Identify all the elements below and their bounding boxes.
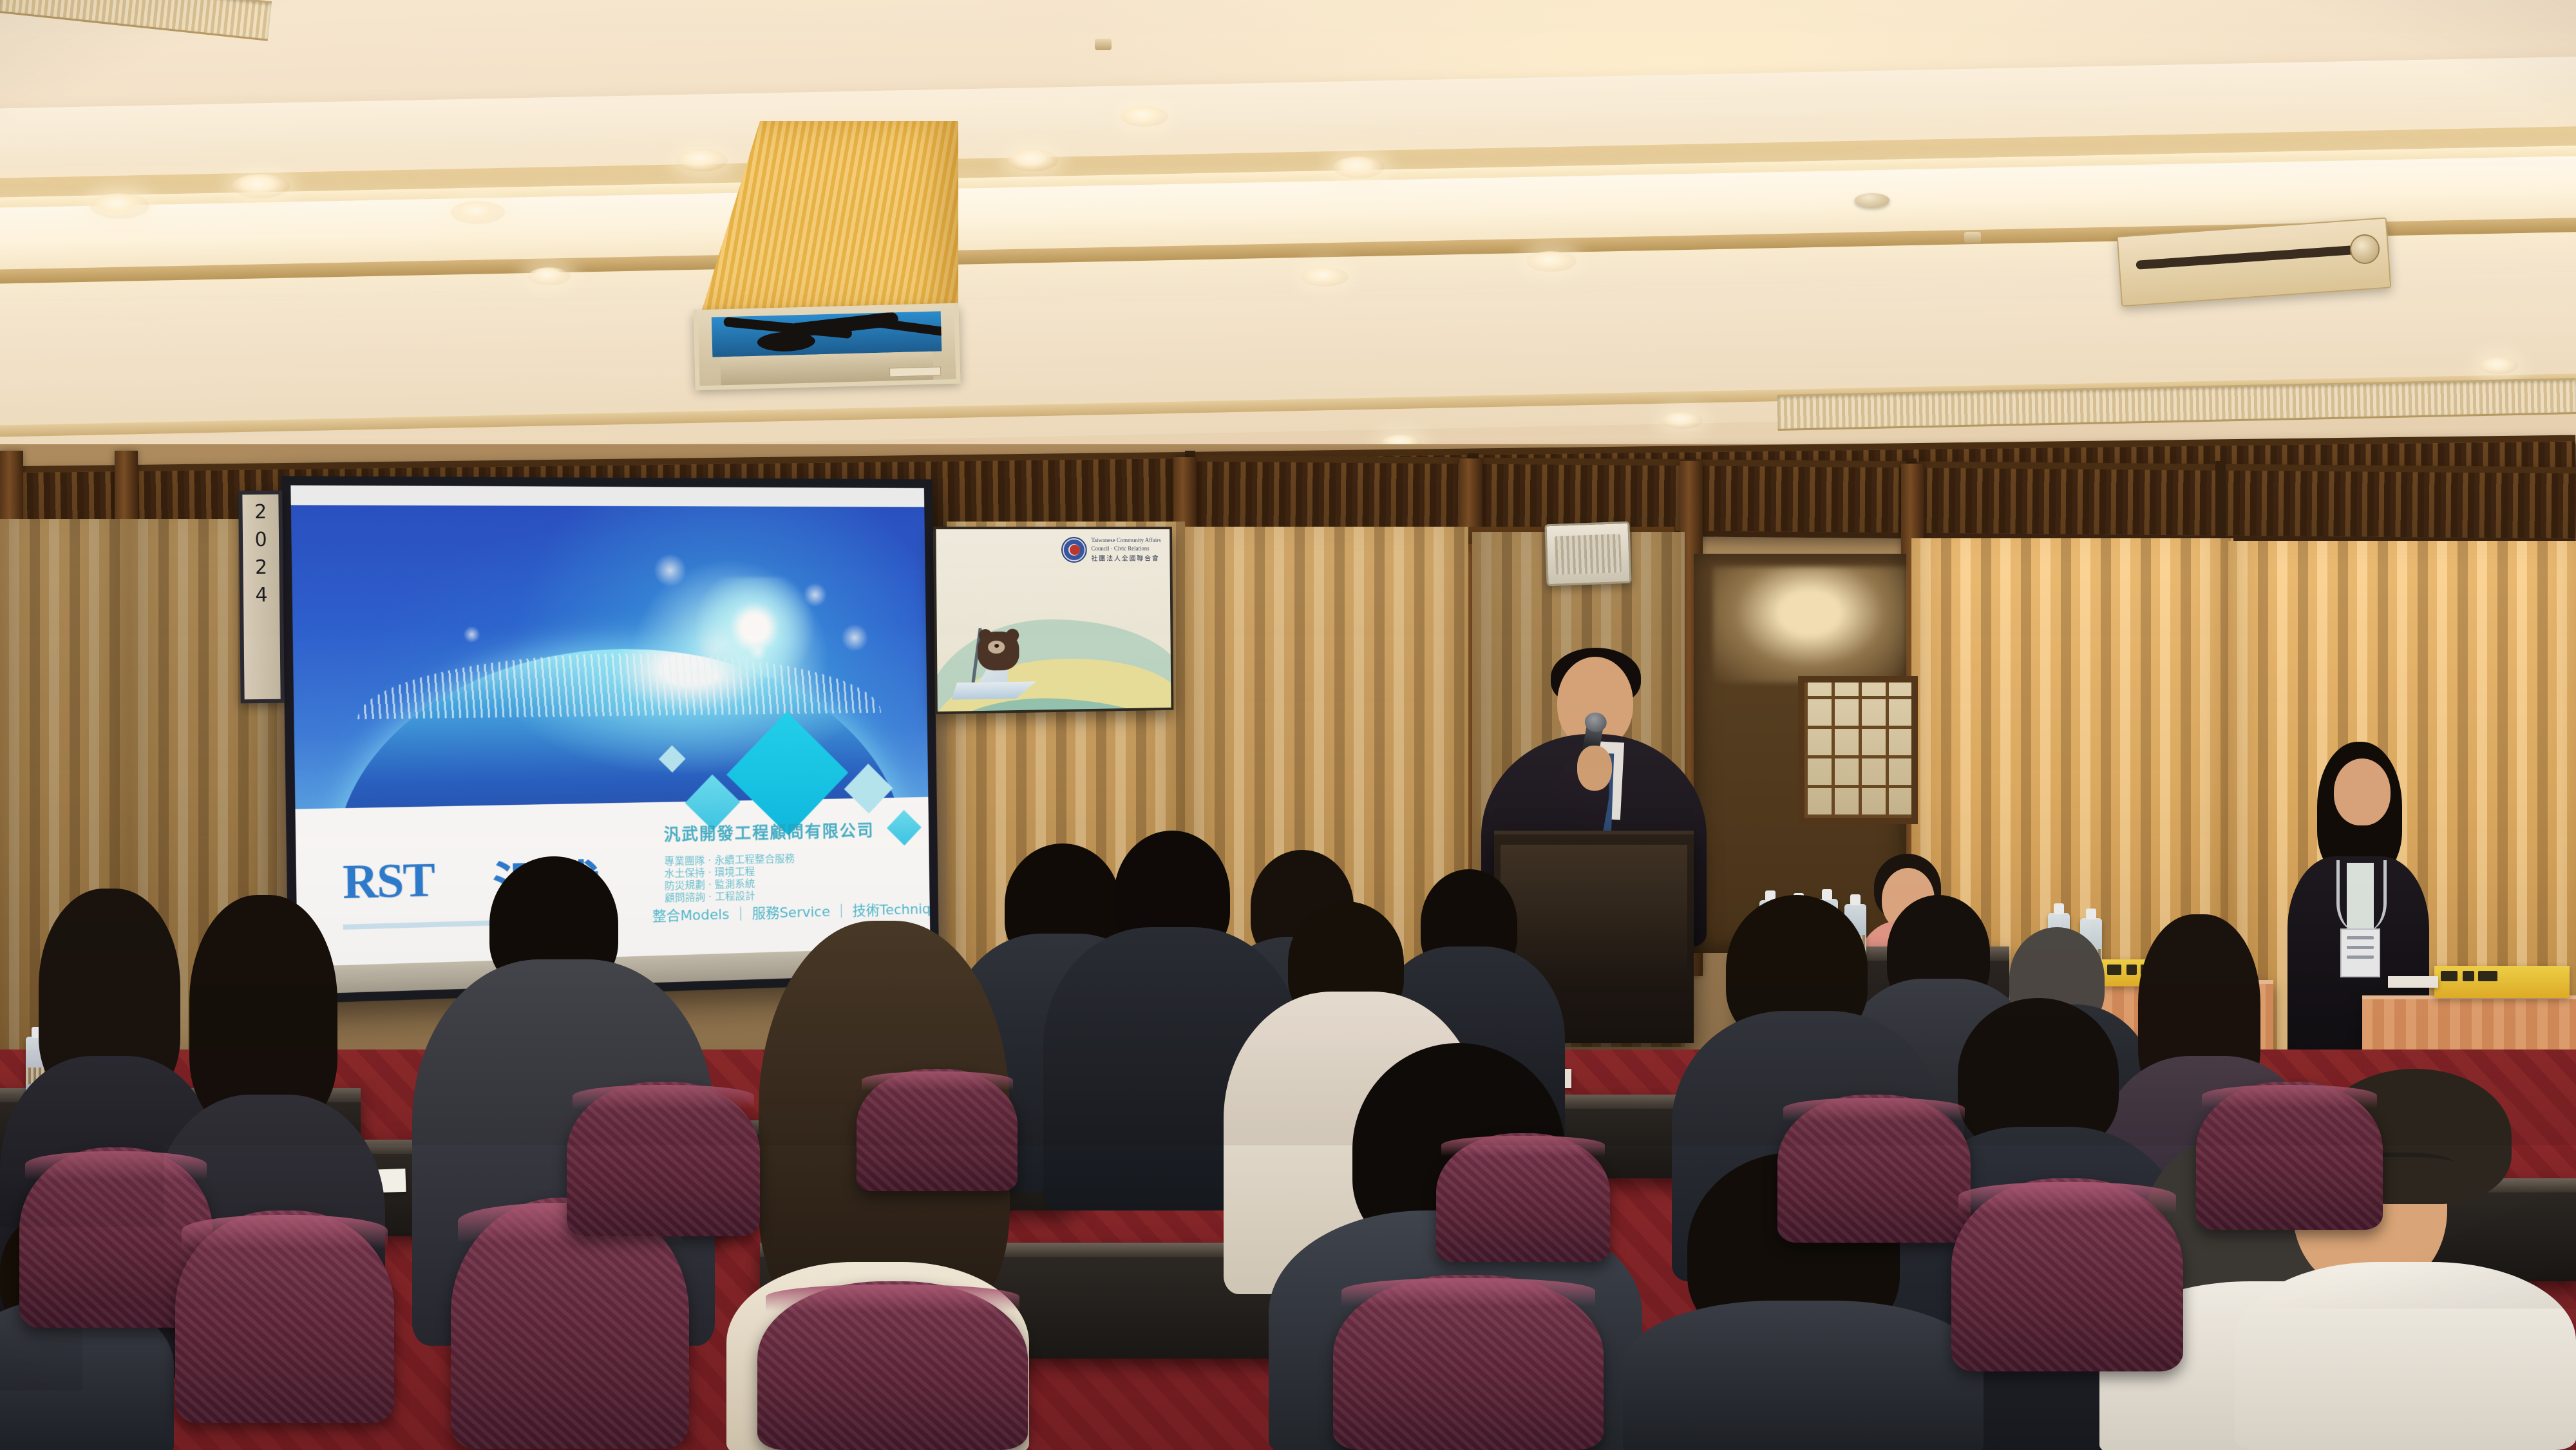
ceiling-projector [694,121,965,398]
projector-hood [701,121,958,314]
slide-logo-latin: RST [342,853,434,911]
audience-torso [2235,1262,2576,1450]
downlight-icon [1301,267,1349,287]
downlight-icon [1008,149,1058,171]
downlight-icon [2479,357,2518,374]
sprinkler-icon [1095,39,1112,50]
banquet-chair[interactable] [1777,1095,1971,1243]
name-badge [2340,928,2380,977]
projector-cage [693,303,960,391]
downlight-icon [528,267,571,285]
sprinkler-icon [1964,232,1981,243]
banner-org-en-2: Council · Civic Relations [1091,545,1160,551]
smoke-detector-icon [1855,193,1889,207]
presenter-hand [1577,746,1612,791]
registration-materials [2434,966,2570,998]
vertical-sign-text: 2024 [249,501,273,612]
lanyard-icon [2336,860,2387,931]
downlight-icon [1662,412,1703,429]
diamond-accent [887,810,922,845]
slide-company-name: 汎武開發工程顧問有限公司 [663,818,874,846]
downlight-icon [451,201,505,224]
sun-flare-graphic [685,577,823,678]
bear-mascot-icon [971,621,1030,673]
downlight-icon [1121,106,1168,127]
shoji-lattice [1804,683,1911,818]
wall-speaker-icon [1544,522,1631,587]
audience-torso [1623,1301,1984,1450]
shoji-screen-panel [1798,676,1918,824]
banquet-chair[interactable] [175,1210,394,1423]
banquet-chair[interactable] [1951,1178,2183,1371]
banquet-chair[interactable] [1333,1275,1604,1450]
banner-org-en-1: Taiwanese Community Affairs [1091,537,1160,543]
vertical-standing-sign: 2024 [238,491,284,704]
conference-room-scene: RST 汎武 汎武開發工程顧問有限公司 專業團隊 · 永續工程整合服務 水土保持… [0,0,2576,1450]
banquet-chair[interactable] [857,1069,1018,1191]
downlight-icon [1526,251,1577,272]
banquet-chair[interactable] [1436,1133,1610,1262]
org-seal-icon [1061,537,1087,563]
downlight-icon [90,193,149,219]
downlight-icon [232,174,290,198]
audience-hair [189,895,337,1127]
banquet-chair[interactable] [567,1082,760,1236]
banner-organization-logo: Taiwanese Community Affairs Council · Ci… [1061,537,1161,563]
event-banner: Taiwanese Community Affairs Council · Ci… [933,527,1173,714]
banquet-chair[interactable] [757,1281,1028,1450]
paper-handout [2388,976,2438,988]
banner-org-cn: 社團法人全國聯合會 [1091,552,1160,562]
alcove-lamp-glow [1713,567,1906,683]
staff-head [2334,758,2391,825]
frieze-divider [2215,461,2226,538]
banquet-chair[interactable] [2196,1082,2383,1230]
downlight-icon [1333,156,1385,178]
